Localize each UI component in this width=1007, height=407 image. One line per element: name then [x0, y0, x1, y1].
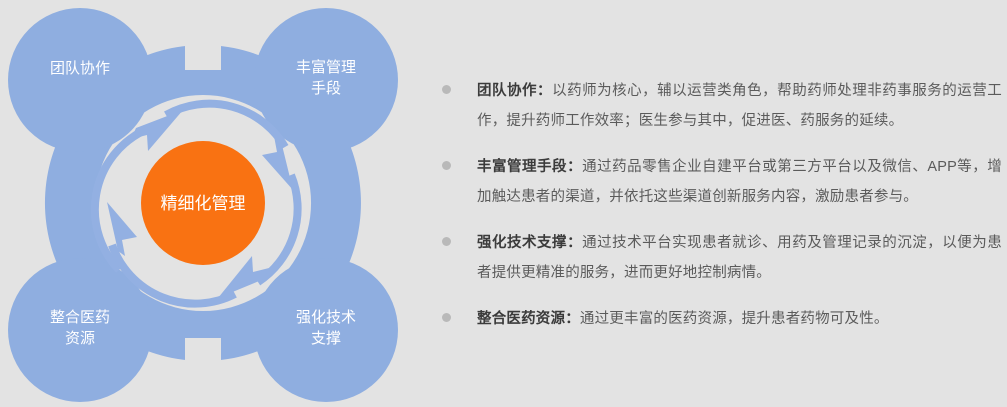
list-item-body: 以药师为核心，辅以运营类角色，帮助药师处理非药事服务的运营工作，提升药师工作效率… [477, 83, 1002, 129]
page-root: 团队协作 丰富管理 手段 整合医药 资源 强化技术 支撑 [0, 0, 1007, 407]
list-item-term: 强化技术支撑 [477, 235, 567, 251]
list-item-text: 丰富管理手段：通过药品零售企业自建平台或第三方平台以及微信、APP等，增加触达患… [477, 152, 1002, 212]
node-label-tech-support-line1: 强化技术 [296, 309, 356, 326]
list-item-term: 整合医药资源 [477, 311, 565, 327]
node-circle-top-left[interactable]: 团队协作 [8, 8, 152, 152]
list-item-separator: ： [567, 159, 582, 175]
list-item: 整合医药资源：通过更丰富的医药资源，提升患者药物可及性。 [426, 304, 1002, 334]
bullet-dot-icon [442, 313, 451, 322]
node-label-pharma-resources-line1: 整合医药 [50, 309, 110, 326]
node-label-management-methods-line2: 手段 [311, 80, 341, 97]
cycle-diagram-svg: 团队协作 丰富管理 手段 整合医药 资源 强化技术 支撑 [0, 0, 406, 407]
node-label-team-collaboration: 团队协作 [50, 60, 110, 77]
list-item: 团队协作：以药师为核心，辅以运营类角色，帮助药师处理非药事服务的运营工作，提升药… [426, 76, 1002, 136]
list-item-separator: ： [565, 311, 580, 327]
cycle-diagram: 团队协作 丰富管理 手段 整合医药 资源 强化技术 支撑 [0, 0, 406, 407]
bullet-list: 团队协作：以药师为核心，辅以运营类角色，帮助药师处理非药事服务的运营工作，提升药… [426, 76, 1002, 334]
list-item-term: 丰富管理手段 [477, 159, 567, 175]
list-item-text: 团队协作：以药师为核心，辅以运营类角色，帮助药师处理非药事服务的运营工作，提升药… [477, 76, 1002, 136]
list-item-text: 强化技术支撑：通过技术平台实现患者就诊、用药及管理记录的沉淀，以便为患者提供更精… [477, 228, 1002, 288]
list-item: 强化技术支撑：通过技术平台实现患者就诊、用药及管理记录的沉淀，以便为患者提供更精… [426, 228, 1002, 288]
node-label-tech-support-line2: 支撑 [311, 330, 341, 347]
list-item-term: 团队协作 [477, 83, 537, 99]
bullet-dot-icon [442, 161, 451, 170]
bullet-dot-icon [442, 237, 451, 246]
list-item-separator: ： [537, 83, 552, 99]
core-label: 精细化管理 [161, 194, 246, 213]
node-label-pharma-resources-line2: 资源 [65, 330, 95, 347]
list-item-body: 通过更丰富的医药资源，提升患者药物可及性。 [580, 311, 889, 327]
list-item-text: 整合医药资源：通过更丰富的医药资源，提升患者药物可及性。 [477, 304, 1002, 334]
core-circle[interactable]: 精细化管理 [141, 141, 265, 265]
bullet-dot-icon [442, 85, 451, 94]
content-panel: 团队协作：以药师为核心，辅以运营类角色，帮助药师处理非药事服务的运营工作，提升药… [408, 0, 1007, 407]
list-item: 丰富管理手段：通过药品零售企业自建平台或第三方平台以及微信、APP等，增加触达患… [426, 152, 1002, 212]
arrow-head-lower-right [218, 256, 269, 298]
node-label-management-methods-line1: 丰富管理 [296, 58, 356, 76]
node-circle-bottom-right[interactable]: 强化技术 支撑 [254, 258, 398, 402]
arrow-head-upper-right [262, 136, 293, 190]
list-item-separator: ： [567, 235, 582, 251]
